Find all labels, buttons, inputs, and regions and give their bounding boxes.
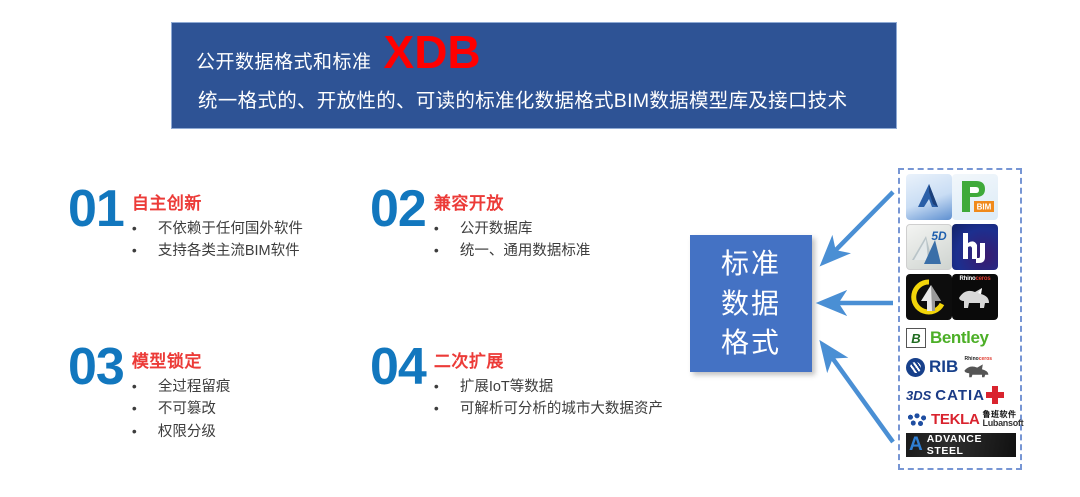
svg-text:BIM: BIM: [977, 203, 992, 212]
feature-number-02: 02: [370, 186, 426, 234]
list-item: • 统一、通用数据标准: [434, 240, 591, 262]
bullet-text: 不可篡改: [158, 398, 216, 420]
bullet-icon: •: [434, 240, 460, 262]
list-item: • 权限分级: [132, 421, 231, 443]
bim-software-logo-panel: BIM 5D: [898, 168, 1022, 470]
list-item: • 扩展IoT等数据: [434, 376, 663, 398]
black-arc-tool-icon: [906, 274, 952, 320]
rib-and-rhino-row: RIB Rhinoceros: [906, 354, 1018, 380]
bullet-icon: •: [132, 376, 158, 398]
arrow-bottom: [823, 345, 893, 442]
std-box-line-2: 数据: [721, 284, 781, 324]
catia-logo: 3DS CATIA: [906, 382, 985, 408]
feature-heading-01: 自主创新: [132, 189, 303, 214]
dassault-3ds-mark: 3DS: [906, 388, 931, 403]
lubansoft-wordmark-en: Lubansoft: [983, 419, 1024, 428]
bullet-icon: •: [132, 218, 158, 240]
bullet-text: 扩展IoT等数据: [460, 376, 553, 398]
bullet-text: 支持各类主流BIM软件: [158, 240, 300, 262]
standard-data-format-box: 标准 数据 格式: [690, 235, 812, 372]
feature-body-01: 自主创新 • 不依赖于任何国外软件 • 支持各类主流BIM软件: [132, 186, 303, 263]
red-cross-icon: [985, 385, 1005, 405]
feature-bullet-list-02: • 公开数据库 • 统一、通用数据标准: [434, 218, 591, 263]
feature-number-03: 03: [68, 344, 124, 392]
tekla-mark-icon: [906, 413, 928, 427]
bentley-wordmark: Bentley: [930, 328, 989, 348]
list-item: • 全过程留痕: [132, 376, 231, 398]
bullet-icon: •: [434, 218, 460, 240]
revit-glyph: [911, 179, 947, 215]
advance-steel-row: A ADVANCE STEEL: [906, 433, 1018, 457]
list-item: • 公开数据库: [434, 218, 591, 240]
rib-logo: RIB: [906, 354, 958, 380]
bullet-text: 公开数据库: [460, 218, 533, 240]
bullet-icon: •: [434, 398, 460, 420]
hy-icon: [952, 224, 998, 270]
list-item: • 不依赖于任何国外软件: [132, 218, 303, 240]
feature-heading-03: 模型锁定: [132, 347, 231, 372]
logo-grid: BIM 5D: [906, 174, 1018, 457]
feature-number-01: 01: [68, 186, 124, 234]
logo-row-2: 5D: [906, 224, 1018, 270]
bullet-text: 不依赖于任何国外软件: [158, 218, 303, 240]
header-banner: 公开数据格式和标准 XDB 统一格式的、开放性的、可读的标准化数据格式BIM数据…: [172, 23, 896, 128]
advance-steel-logo: A ADVANCE STEEL: [906, 433, 1016, 457]
advance-steel-wordmark: ADVANCE STEEL: [927, 433, 1016, 457]
list-item: • 不可篡改: [132, 398, 231, 420]
rhino-small-glyph: [961, 362, 995, 378]
feature-block-02: 02 兼容开放 • 公开数据库 • 统一、通用数据标准: [370, 186, 590, 263]
bentley-logo: B Bentley: [906, 325, 1018, 351]
bullet-text: 可解析可分析的城市大数据资产: [460, 398, 663, 420]
lubansoft-logo: 鲁班软件 Lubansoft: [983, 411, 1024, 429]
feature-heading-02: 兼容开放: [434, 189, 591, 214]
bentley-mark-icon: B: [906, 328, 926, 348]
advance-steel-mark: A: [909, 435, 923, 454]
catia-row: 3DS CATIA: [906, 382, 1018, 408]
std-box-line-1: 标准: [721, 244, 781, 284]
banner-title-xdb: XDB: [384, 29, 481, 75]
feature-heading-04: 二次扩展: [434, 347, 663, 372]
5d-tool-icon: 5D: [906, 224, 952, 270]
feature-bullet-list-04: • 扩展IoT等数据 • 可解析可分析的城市大数据资产: [434, 376, 663, 421]
feature-block-04: 04 二次扩展 • 扩展IoT等数据 • 可解析可分析的城市大数据资产: [370, 344, 663, 421]
arrow-top: [824, 192, 893, 262]
banner-subtitle: 公开数据格式和标准: [196, 47, 372, 74]
feature-body-02: 兼容开放 • 公开数据库 • 统一、通用数据标准: [434, 186, 591, 263]
bullet-text: 权限分级: [158, 421, 216, 443]
svg-text:5D: 5D: [931, 229, 947, 243]
hy-glyph: [955, 227, 995, 267]
5d-glyph: 5D: [908, 226, 950, 268]
arc-glyph: [909, 277, 949, 317]
pbim-icon: BIM: [952, 174, 998, 220]
bullet-icon: •: [132, 240, 158, 262]
feature-bullet-list-01: • 不依赖于任何国外软件 • 支持各类主流BIM软件: [132, 218, 303, 263]
bullet-text: 统一、通用数据标准: [460, 240, 591, 262]
rhino-glyph: [955, 282, 995, 312]
pbim-glyph: BIM: [954, 177, 996, 217]
feature-bullet-list-03: • 全过程留痕 • 不可篡改 • 权限分级: [132, 376, 231, 443]
banner-title-row: 公开数据格式和标准 XDB: [196, 29, 481, 75]
feature-body-03: 模型锁定 • 全过程留痕 • 不可篡改 • 权限分级: [132, 344, 231, 443]
logo-row-3: Rhinoceros: [906, 274, 1018, 320]
feature-number-04: 04: [370, 344, 426, 392]
bullet-icon: •: [132, 421, 158, 443]
tekla-luban-row: TEKLA 鲁班软件 Lubansoft: [906, 411, 1018, 429]
rhinoceros-logo: Rhinoceros: [958, 354, 998, 380]
rhinoceros-tile-icon: Rhinoceros: [952, 274, 998, 320]
list-item: • 支持各类主流BIM软件: [132, 240, 303, 262]
tekla-wordmark: TEKLA: [931, 411, 980, 428]
list-item: • 可解析可分析的城市大数据资产: [434, 398, 663, 420]
std-box-line-3: 格式: [721, 323, 781, 363]
feature-block-03: 03 模型锁定 • 全过程留痕 • 不可篡改 • 权限分级: [68, 344, 230, 443]
rib-mark-icon: [906, 358, 925, 377]
catia-wordmark: CATIA: [935, 387, 985, 404]
feature-body-04: 二次扩展 • 扩展IoT等数据 • 可解析可分析的城市大数据资产: [434, 344, 663, 421]
feature-block-01: 01 自主创新 • 不依赖于任何国外软件 • 支持各类主流BIM软件: [68, 186, 303, 263]
bullet-text: 全过程留痕: [158, 376, 231, 398]
revit-icon: [906, 174, 952, 220]
bullet-icon: •: [434, 376, 460, 398]
logo-row-1: BIM: [906, 174, 1018, 220]
rib-wordmark: RIB: [929, 357, 958, 377]
bullet-icon: •: [132, 398, 158, 420]
banner-tagline: 统一格式的、开放性的、可读的标准化数据格式BIM数据模型库及接口技术: [198, 84, 847, 113]
